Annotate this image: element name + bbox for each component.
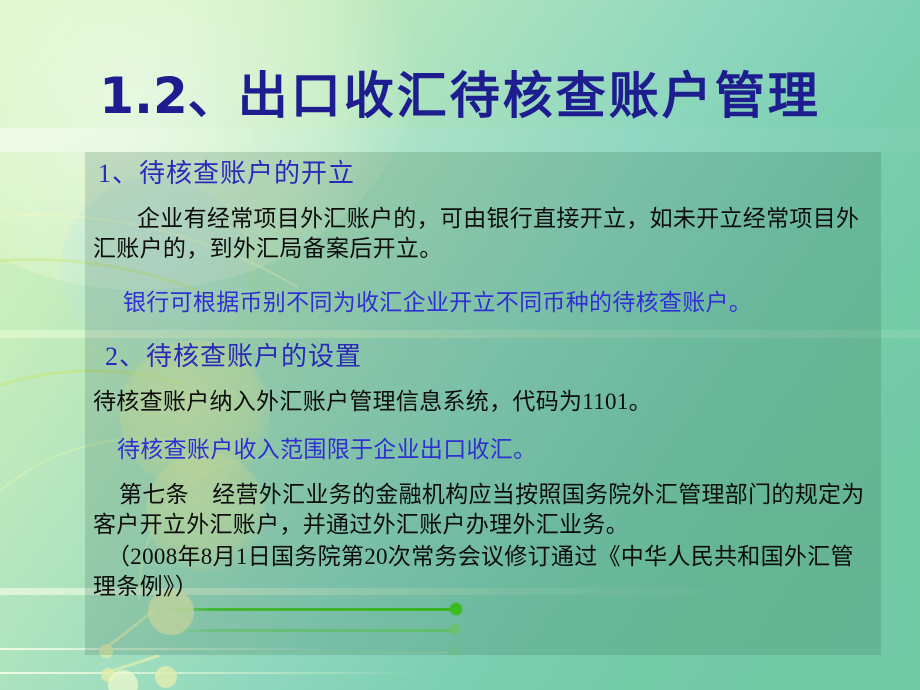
content-panel: 1、待核查账户的开立 企业有经常项目外汇账户的，可由银行直接开立，如未开立经常项… bbox=[85, 152, 881, 655]
slide-canvas: 1.2、出口收汇待核查账户管理 1、待核查账户的开立 企业有经常项目外汇账户的，… bbox=[0, 0, 920, 690]
network-diagonal-b bbox=[104, 654, 160, 675]
pale-line-b bbox=[0, 672, 420, 674]
section-2-heading: 2、待核查账户的设置 bbox=[105, 341, 362, 373]
page-title-text: 出口收汇待核查账户管理 bbox=[238, 66, 821, 125]
section-1-heading: 1、待核查账户的开立 bbox=[98, 158, 355, 190]
network-node-medium bbox=[155, 666, 177, 688]
section-2-paragraph-4-citation: （2008年8月1日国务院第20次常务会议修订通过《中华人民共和国外汇管理条例》… bbox=[93, 542, 875, 602]
section-1-paragraph-1: 企业有经常项目外汇账户的，可由银行直接开立，如未开立经常项目外汇账户的，到外汇局… bbox=[93, 204, 873, 264]
band-top bbox=[0, 128, 920, 152]
section-2-paragraph-1: 待核查账户纳入外汇账户管理信息系统，代码为1101。 bbox=[93, 387, 873, 417]
network-node-small-b bbox=[101, 668, 115, 682]
section-2-paragraph-2-highlight: 待核查账户收入范围限于企业出口收汇。 bbox=[117, 435, 877, 465]
section-1-paragraph-2-highlight: 银行可根据币别不同为收汇企业开立不同币种的待核查账户。 bbox=[123, 288, 883, 318]
section-2-paragraph-3-regulation: 第七条 经营外汇业务的金融机构应当按照国务院外汇管理部门的规定为客户开立外汇账户… bbox=[93, 480, 875, 540]
page-title: 1.2、出口收汇待核查账户管理 bbox=[0, 66, 920, 126]
network-node-white bbox=[108, 670, 138, 690]
page-title-number: 1.2、 bbox=[99, 67, 238, 125]
